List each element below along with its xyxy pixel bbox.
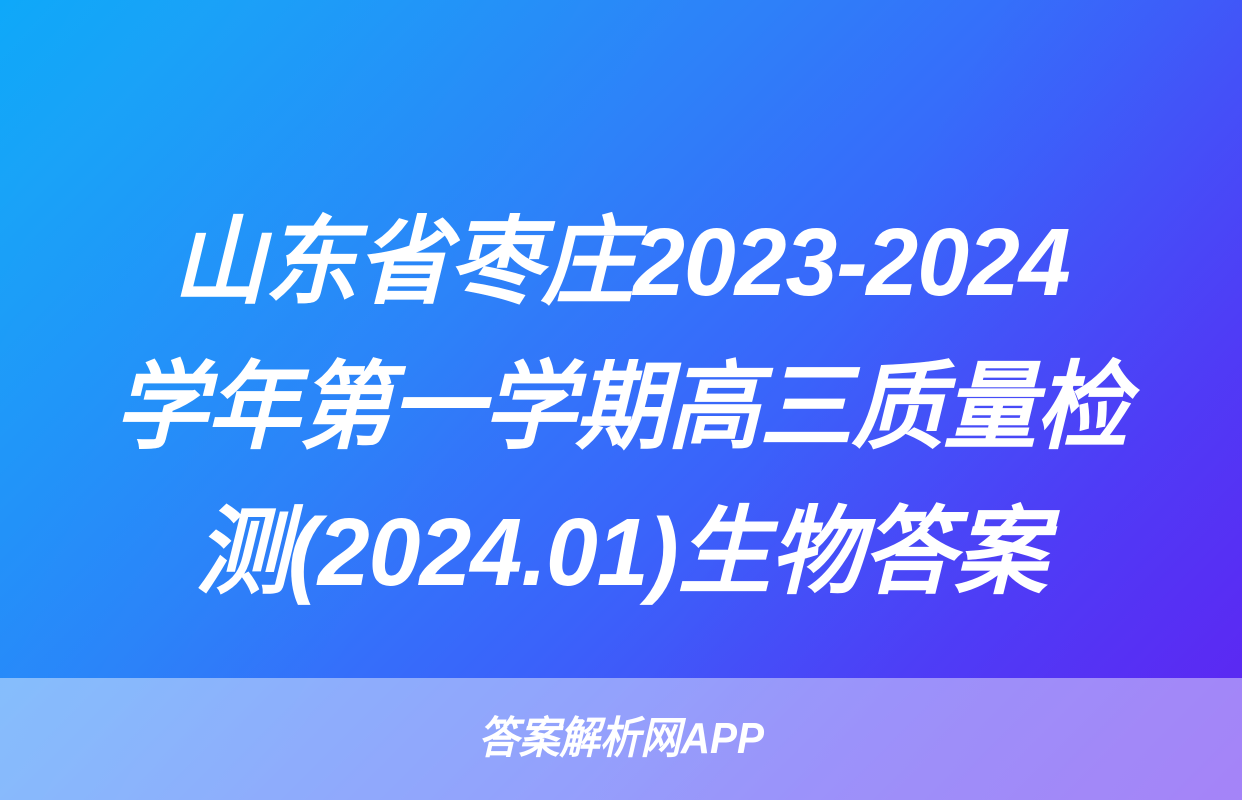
title-line-1: 山东省枣庄2023-2024: [57, 190, 1184, 335]
title-line-3: 测(2024.01)生物答案: [57, 480, 1184, 625]
brand-label: 答案解析网APP: [478, 717, 764, 761]
footer-brand-band: 答案解析网APP: [0, 678, 1242, 800]
poster-canvas: 山东省枣庄2023-2024 学年第一学期高三质量检 测(2024.01)生物答…: [0, 0, 1242, 800]
title-line-2: 学年第一学期高三质量检: [57, 335, 1184, 480]
page-title: 山东省枣庄2023-2024 学年第一学期高三质量检 测(2024.01)生物答…: [0, 190, 1242, 625]
